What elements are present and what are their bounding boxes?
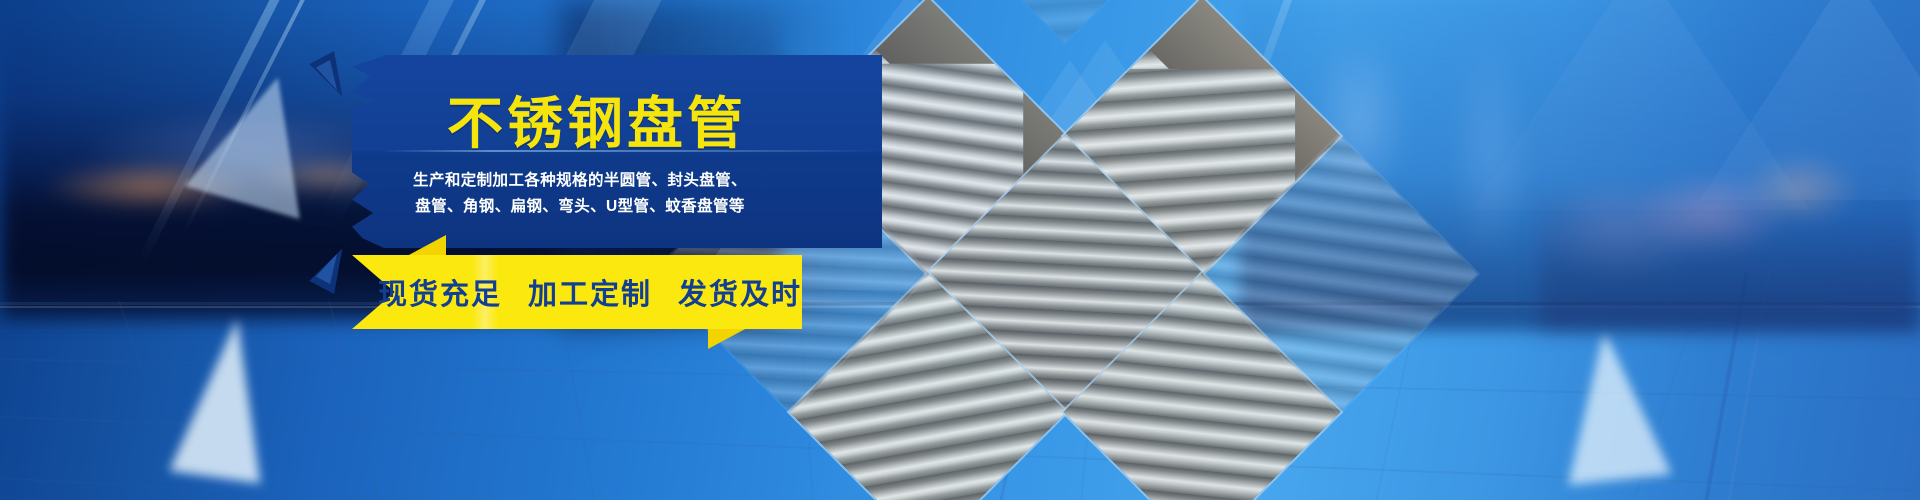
ribbon-item-shipping: 发货及时 [678,271,802,313]
page-title: 不锈钢盘管 [447,95,747,153]
subtitle-block: 生产和定制加工各种规格的半圆管、封头盘管、 盘管、角钢、扁钢、弯头、U型管、蚊香… [404,168,756,220]
plaza-glow-triangle-2 [1552,325,1671,485]
ribbon-item-custom: 加工定制 [528,271,652,313]
product-photo-collage [830,0,1300,466]
subtitle-line-2: 盘管、角钢、扁钢、弯头、U型管、蚊香盘管等 [404,194,756,220]
features-ribbon: 现货充足 加工定制 发货及时 [352,255,802,329]
ribbon-item-stock: 现货充足 [378,271,502,313]
subtitle-line-1: 生产和定制加工各种规格的半圆管、封头盘管、 [404,168,756,194]
right-cityscape-shadow [1540,180,1920,330]
ribbon-text-group: 现货充足 加工定制 发货及时 [352,255,802,329]
hero-banner: 不锈钢盘管 生产和定制加工各种规格的半圆管、封头盘管、 盘管、角钢、扁钢、弯头、… [0,0,1920,500]
